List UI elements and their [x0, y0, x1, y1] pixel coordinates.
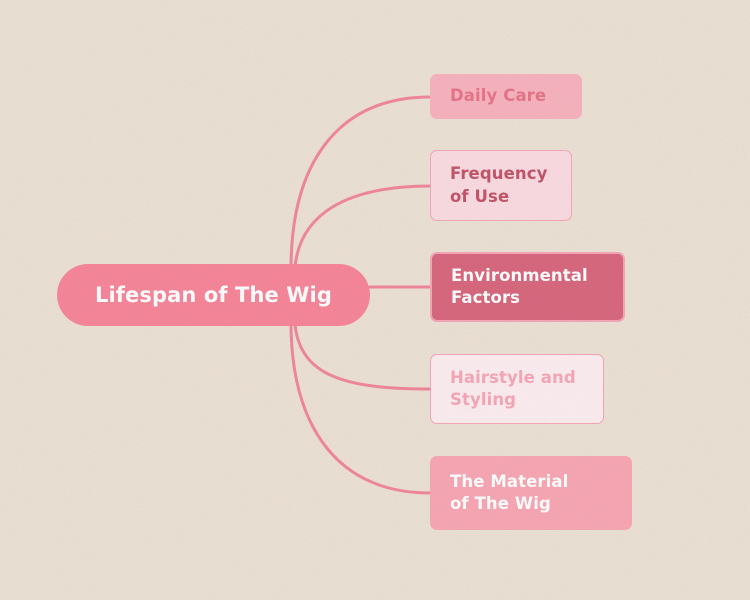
- root-node-lifespan-of-the-wig[interactable]: Lifespan of The Wig: [57, 264, 370, 326]
- connector-the-material-of-the-wig: [291, 325, 430, 493]
- branch-node-the-material-of-the-wig[interactable]: The Material of The Wig: [430, 456, 632, 530]
- root-node-label: Lifespan of The Wig: [95, 281, 332, 309]
- connector-frequency-of-use: [295, 186, 430, 267]
- branch-node-label-frequency-of-use: Frequency of Use: [450, 163, 547, 207]
- branch-node-label-the-material-of-the-wig: The Material of The Wig: [450, 471, 568, 515]
- connector-daily-care: [291, 97, 430, 266]
- branch-node-frequency-of-use[interactable]: Frequency of Use: [430, 150, 572, 221]
- branch-node-daily-care[interactable]: Daily Care: [430, 74, 582, 119]
- mindmap-canvas: Lifespan of The Wig Daily Care Frequency…: [0, 0, 750, 600]
- branch-node-environmental-factors[interactable]: Environmental Factors: [430, 252, 625, 322]
- branch-node-hairstyle-and-styling[interactable]: Hairstyle and Styling: [430, 354, 604, 424]
- branch-node-label-environmental-factors: Environmental Factors: [451, 265, 588, 309]
- connector-hairstyle-and-styling: [295, 324, 430, 389]
- branch-node-label-daily-care: Daily Care: [450, 85, 546, 107]
- branch-node-label-hairstyle-and-styling: Hairstyle and Styling: [450, 367, 576, 411]
